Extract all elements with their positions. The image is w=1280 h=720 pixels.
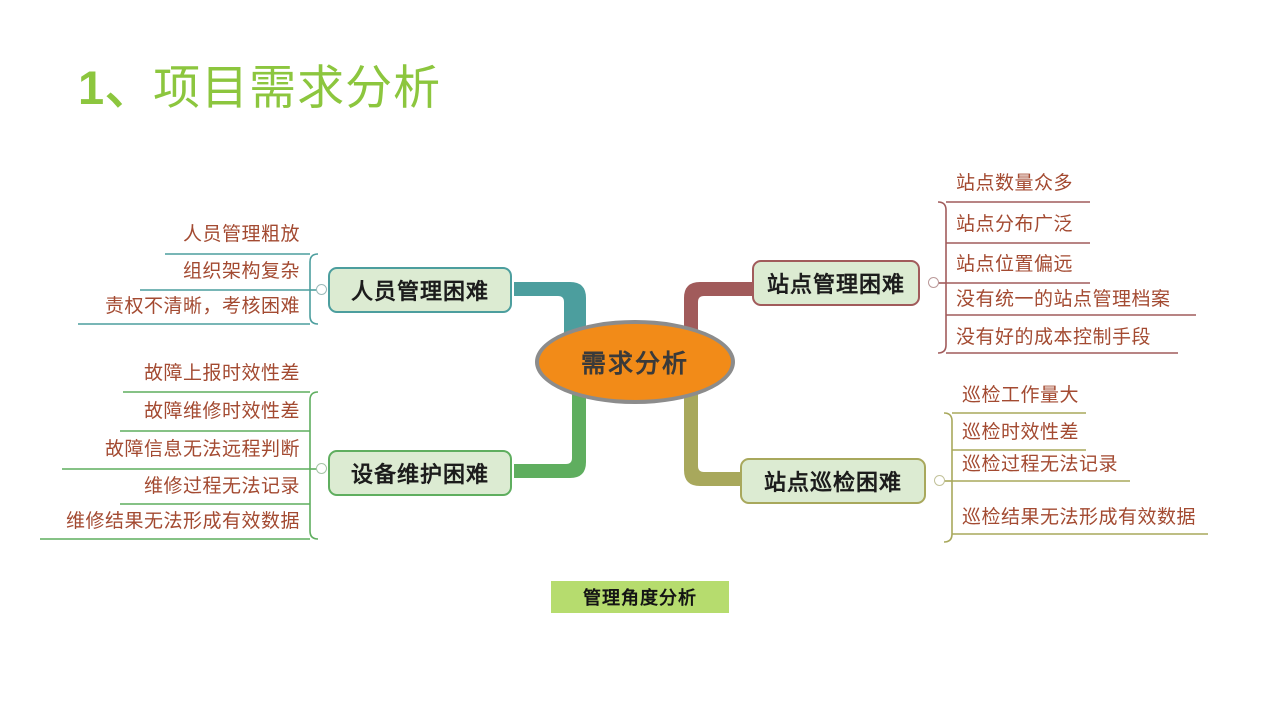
subitem-patrol-2[interactable]: 巡检过程无法记录 [962, 449, 1118, 476]
branch-node-device-label: 设备维护困难 [351, 457, 489, 489]
footer-caption: 管理角度分析 [551, 581, 729, 613]
subitem-people-1[interactable]: 组织架构复杂 [183, 256, 300, 283]
subitem-people-2[interactable]: 责权不清晰，考核困难 [105, 291, 300, 318]
subitem-people-0[interactable]: 人员管理粗放 [183, 219, 300, 246]
branch-node-people[interactable]: 人员管理困难 [328, 267, 512, 313]
center-node[interactable]: 需求分析 [535, 320, 735, 404]
subitem-station-2[interactable]: 站点位置偏远 [956, 249, 1073, 276]
subitem-device-2[interactable]: 故障信息无法远程判断 [105, 434, 300, 461]
subitem-patrol-0[interactable]: 巡检工作量大 [962, 380, 1079, 407]
subitem-device-4[interactable]: 维修结果无法形成有效数据 [66, 506, 300, 533]
page-title: 1、项目需求分析 [78, 62, 441, 114]
hub-dot-people[interactable] [316, 284, 327, 295]
subitem-device-1[interactable]: 故障维修时效性差 [144, 396, 300, 423]
branch-node-patrol[interactable]: 站点巡检困难 [740, 458, 926, 504]
subitem-device-0[interactable]: 故障上报时效性差 [144, 358, 300, 385]
footer-caption-label: 管理角度分析 [583, 584, 697, 610]
branch-node-people-label: 人员管理困难 [351, 274, 489, 306]
connector-center-to-device-body [514, 388, 586, 478]
subitem-patrol-3[interactable]: 巡检结果无法形成有效数据 [962, 502, 1196, 529]
branch-node-station-label: 站点管理困难 [767, 267, 905, 299]
slide-canvas: 1、项目需求分析 [0, 0, 1280, 720]
branch-node-patrol-label: 站点巡检困难 [764, 465, 902, 497]
subitem-device-3[interactable]: 维修过程无法记录 [144, 471, 300, 498]
subitem-station-0[interactable]: 站点数量众多 [956, 168, 1073, 195]
title-number: 1、 [78, 61, 153, 114]
subitem-patrol-1[interactable]: 巡检时效性差 [962, 417, 1079, 444]
title-text: 项目需求分析 [153, 61, 441, 114]
hub-dot-patrol[interactable] [934, 475, 945, 486]
hub-dot-device[interactable] [316, 463, 327, 474]
hub-dot-station[interactable] [928, 277, 939, 288]
subitem-station-1[interactable]: 站点分布广泛 [956, 209, 1073, 236]
branch-node-station[interactable]: 站点管理困难 [752, 260, 920, 306]
connector-center-to-patrol-body [684, 388, 740, 486]
branch-node-device[interactable]: 设备维护困难 [328, 450, 512, 496]
center-node-label: 需求分析 [581, 344, 689, 380]
subitem-station-4[interactable]: 没有好的成本控制手段 [956, 322, 1151, 349]
subitem-station-3[interactable]: 没有统一的站点管理档案 [956, 284, 1171, 311]
